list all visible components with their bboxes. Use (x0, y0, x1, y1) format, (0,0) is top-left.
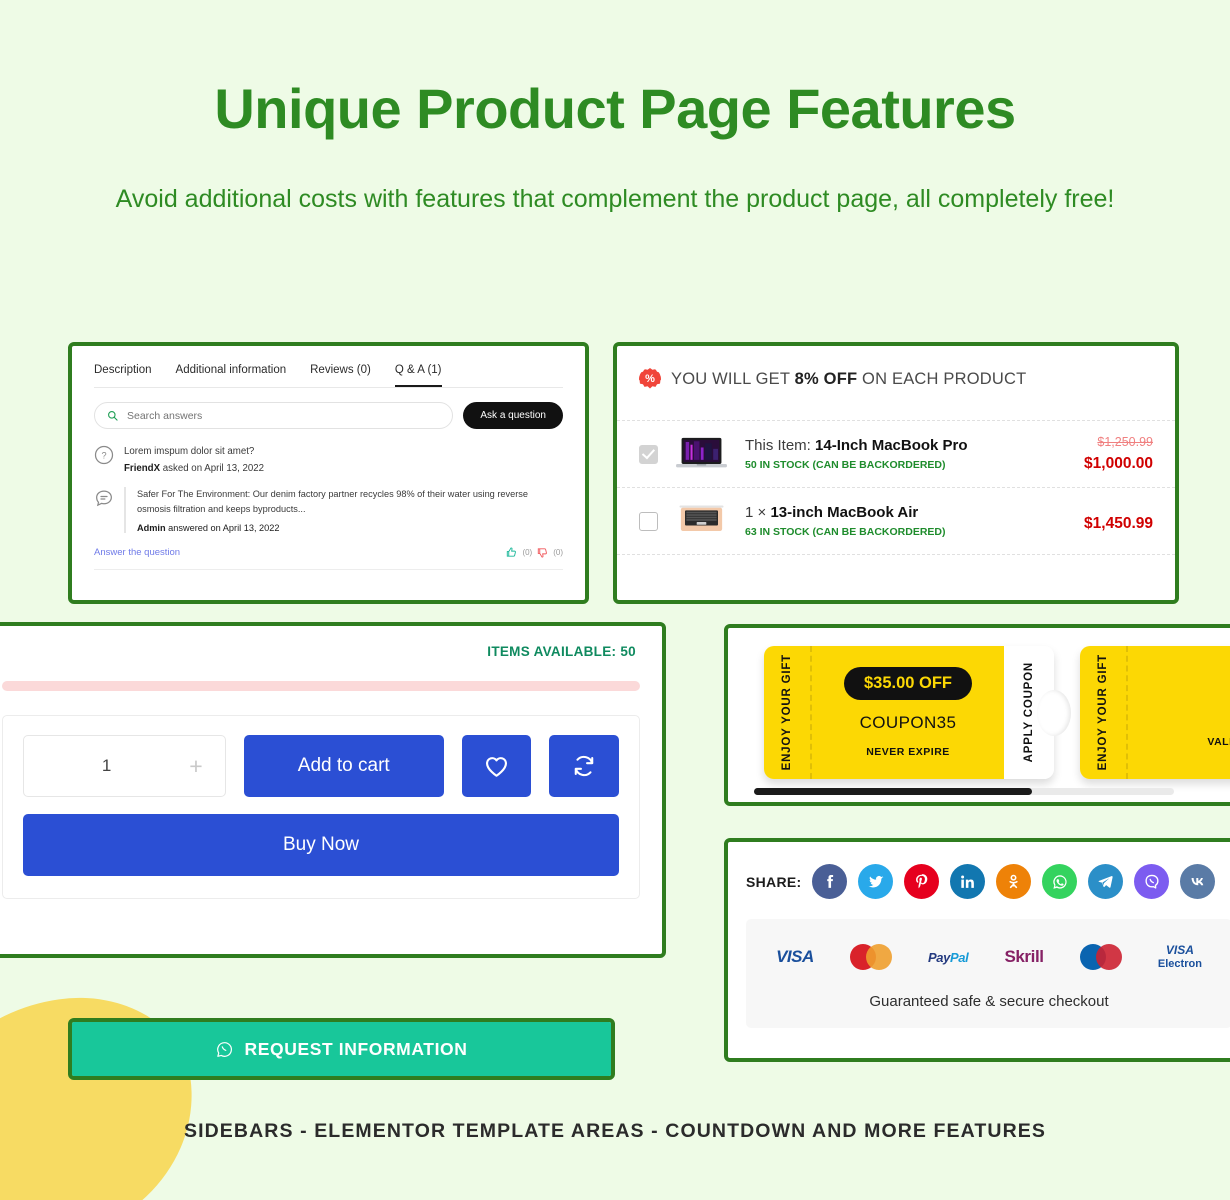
search-icon (107, 410, 118, 421)
heart-icon (483, 753, 510, 780)
skrill-logo: Skrill (1004, 947, 1043, 967)
bundle-item-name: 14-Inch MacBook Pro (815, 437, 968, 454)
coupon-code: COUPON35 (860, 713, 957, 733)
tab-description[interactable]: Description (94, 364, 152, 387)
thumbs-up-count: (0) (522, 548, 532, 557)
qa-vote-controls: (0) (0) (506, 547, 563, 558)
footer-caption: SIDEBARS - ELEMENTOR TEMPLATE AREAS - CO… (0, 1120, 1230, 1143)
bundle-item-prefix: This Item: (745, 437, 815, 454)
qa-panel: Description Additional information Revie… (68, 342, 589, 604)
apply-coupon-label: APPLY COUPON (1023, 662, 1035, 762)
coupon-carousel: ENJOY YOUR GIFT $35.00 OFF COUPON35 NEVE… (728, 628, 1230, 779)
stock-status: 63 IN STOCK (CAN BE BACKORDERED) (745, 526, 1068, 538)
macbook-pro-thumbnail (674, 435, 729, 473)
facebook-icon[interactable] (812, 864, 847, 899)
qa-answer: Safer For The Environment: Our denim fac… (94, 487, 563, 533)
bundle-item-prices: $1,250.99 $1,000.00 (1084, 435, 1153, 473)
old-price: $1,250.99 (1084, 435, 1153, 449)
bundle-offer-panel: % YOU WILL GET 8% OFF ON EACH PRODUCT (613, 342, 1179, 604)
answer-the-question-link[interactable]: Answer the question (94, 547, 180, 558)
coupon-scrollbar[interactable] (754, 788, 1174, 795)
buy-now-button[interactable]: Buy Now (23, 814, 619, 876)
percent-badge-icon: % (639, 368, 661, 390)
qa-footer: Answer the question (0) (0) (94, 547, 563, 570)
viber-icon[interactable] (1134, 864, 1169, 899)
stock-progress-bar (2, 681, 640, 691)
question-mark-icon: ? (94, 445, 114, 465)
bundle-headline-post: ON EACH PRODUCT (857, 370, 1026, 388)
ask-a-question-button[interactable]: Ask a question (463, 402, 563, 429)
table-row: This Item: 14-Inch MacBook Pro 50 IN STO… (617, 420, 1175, 487)
comment-icon (94, 488, 114, 508)
telegram-icon[interactable] (1088, 864, 1123, 899)
tab-reviews[interactable]: Reviews (0) (310, 364, 371, 387)
page-subtitle: Avoid additional costs with features tha… (0, 176, 1230, 222)
share-label: SHARE: (746, 874, 801, 890)
bundle-item-name: 13-inch MacBook Air (770, 504, 918, 521)
bundle-headline: YOU WILL GET 8% OFF ON EACH PRODUCT (671, 370, 1026, 389)
coupon-validity: VALID (1207, 736, 1230, 748)
coupon-side-label: ENJOY YOUR GIFT (781, 654, 793, 770)
qa-question-meta: asked on April 13, 2022 (160, 463, 264, 474)
wishlist-button[interactable] (462, 735, 532, 797)
bundle-item-prices: $1,450.99 (1084, 509, 1153, 533)
odnoklassniki-icon[interactable] (996, 864, 1031, 899)
twitter-icon[interactable] (858, 864, 893, 899)
bundle-item-prefix: 1 × (745, 504, 770, 521)
hero-section: Unique Product Page Features Avoid addit… (0, 0, 1230, 222)
visa-logo: VISA (776, 947, 814, 967)
payment-methods-box: VISA PayPal Skrill VISAElectron Guarante… (746, 919, 1230, 1028)
stock-status: 50 IN STOCK (CAN BE BACKORDERED) (745, 459, 1068, 471)
macbook-air-thumbnail (674, 502, 729, 540)
product-tabs: Description Additional information Revie… (94, 364, 563, 388)
compare-icon (571, 753, 597, 779)
coupons-panel: ENJOY YOUR GIFT $35.00 OFF COUPON35 NEVE… (724, 624, 1230, 806)
coupon-side-label-wrap: ENJOY YOUR GIFT (1080, 646, 1126, 779)
current-price: $1,450.99 (1084, 515, 1153, 533)
search-input[interactable]: Search answers (94, 402, 453, 429)
search-placeholder: Search answers (127, 410, 202, 422)
coupon-body: $35.00 OFF COUPON35 NEVER EXPIRE (810, 646, 1004, 779)
qa-question-text: Lorem imspum dolor sit amet? (124, 444, 264, 461)
coupon-card[interactable]: ENJOY YOUR GIFT VALID (1080, 646, 1230, 779)
quantity-value: 1 (24, 756, 189, 776)
items-available-label: ITEMS AVAILABLE: 50 (0, 626, 662, 659)
bundle-headline-pre: YOU WILL GET (671, 370, 795, 388)
quantity-increase-button[interactable]: + (189, 755, 202, 778)
qa-question: ? Lorem imspum dolor sit amet? FriendX a… (94, 444, 563, 478)
request-information-button[interactable]: REQUEST INFORMATION (72, 1022, 611, 1076)
whatsapp-icon[interactable] (1042, 864, 1077, 899)
apply-coupon-button[interactable]: APPLY COUPON (1004, 646, 1054, 779)
maestro-logo (1080, 944, 1122, 970)
add-to-cart-panel: ITEMS AVAILABLE: 50 1 + Add to cart (0, 622, 666, 958)
cart-actions-box: 1 + Add to cart (2, 715, 640, 899)
pinterest-icon[interactable] (904, 864, 939, 899)
vk-icon[interactable] (1180, 864, 1215, 899)
coupon-card[interactable]: ENJOY YOUR GIFT $35.00 OFF COUPON35 NEVE… (764, 646, 1054, 779)
qa-question-author: FriendX (124, 463, 160, 474)
qa-answer-author: Admin (137, 523, 166, 533)
qa-thread: ? Lorem imspum dolor sit amet? FriendX a… (94, 444, 563, 570)
bundle-items: This Item: 14-Inch MacBook Pro 50 IN STO… (617, 420, 1175, 555)
page-title: Unique Product Page Features (0, 78, 1230, 140)
qa-answer-text: Safer For The Environment: Our denim fac… (137, 487, 563, 517)
visa-electron-logo: VISAElectron (1158, 944, 1202, 969)
current-price: $1,000.00 (1084, 455, 1153, 473)
thumbs-down-icon[interactable] (537, 547, 548, 558)
compare-button[interactable] (549, 735, 619, 797)
request-information-panel: REQUEST INFORMATION (68, 1018, 615, 1080)
bundle-item-checkbox[interactable] (639, 512, 658, 531)
tab-qa[interactable]: Q & A (1) (395, 364, 442, 387)
mastercard-logo (850, 944, 892, 970)
qa-search-row: Search answers Ask a question (94, 402, 563, 429)
coupon-side-label: ENJOY YOUR GIFT (1097, 654, 1109, 770)
quantity-stepper[interactable]: 1 + (23, 735, 226, 797)
decorative-blob (0, 983, 210, 1200)
payment-logos: VISA PayPal Skrill VISAElectron (758, 941, 1220, 973)
coupon-amount: $35.00 OFF (844, 667, 972, 700)
whatsapp-icon (215, 1040, 234, 1059)
tab-additional-information[interactable]: Additional information (176, 364, 287, 387)
coupon-validity: NEVER EXPIRE (866, 746, 950, 758)
qa-answer-meta: answered on April 13, 2022 (166, 523, 280, 533)
thumbs-down-count: (0) (553, 548, 563, 557)
share-row: SHARE: (728, 842, 1230, 899)
secure-checkout-caption: Guaranteed safe & secure checkout (758, 993, 1220, 1010)
coupon-side-label-wrap: ENJOY YOUR GIFT (764, 646, 810, 779)
bundle-headline-row: % YOU WILL GET 8% OFF ON EACH PRODUCT (617, 346, 1175, 390)
thumbs-up-icon[interactable] (506, 547, 517, 558)
linkedin-icon[interactable] (950, 864, 985, 899)
coupon-body: VALID (1126, 646, 1230, 779)
page-root: Unique Product Page Features Avoid addit… (0, 0, 1230, 1200)
bundle-headline-strong: 8% OFF (795, 370, 858, 388)
add-to-cart-button[interactable]: Add to cart (244, 735, 444, 797)
bundle-item-checkbox[interactable] (639, 445, 658, 464)
table-row: 1 × 13-inch MacBook Air 63 IN STOCK (CAN… (617, 487, 1175, 555)
request-information-label: REQUEST INFORMATION (244, 1039, 467, 1060)
paypal-logo: PayPal (928, 950, 968, 965)
share-and-payment-panel: SHARE: (724, 838, 1230, 1062)
svg-text:?: ? (101, 451, 106, 461)
